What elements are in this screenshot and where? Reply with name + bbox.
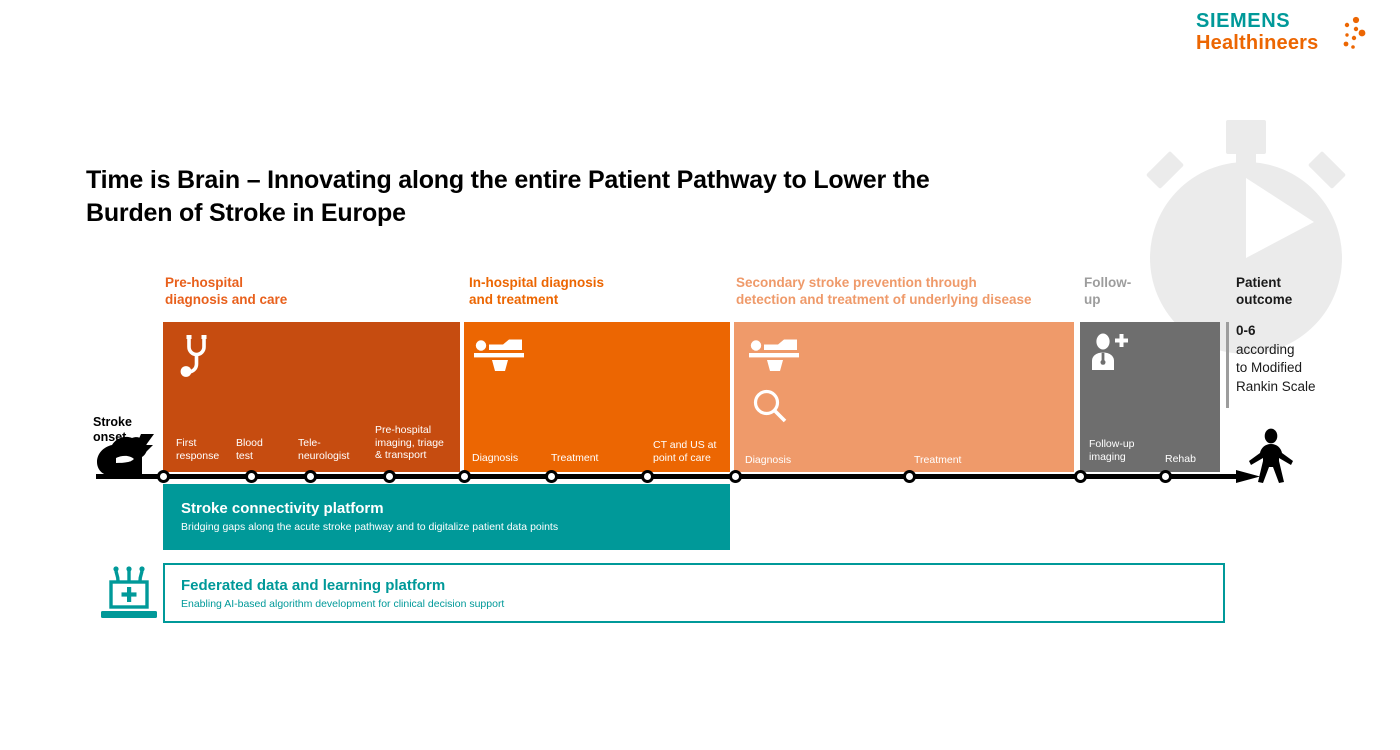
- platform-federated-data: Federated data and learning platform Ena…: [163, 563, 1225, 623]
- phase-header-pre-hospital: Pre-hospital diagnosis and care: [165, 274, 445, 308]
- timeline-node[interactable]: [157, 470, 170, 483]
- step-label-treatment-in-hospital: Treatment: [551, 452, 621, 465]
- timeline-node[interactable]: [1074, 470, 1087, 483]
- page-title: Time is Brain – Innovating along the ent…: [86, 164, 966, 230]
- timeline-node[interactable]: [245, 470, 258, 483]
- timeline-node[interactable]: [903, 470, 916, 483]
- step-label-rehab: Rehab: [1165, 453, 1225, 466]
- step-label-first-response: First response: [176, 437, 230, 462]
- phase-header-patient-outcome: Patient outcome: [1236, 274, 1366, 308]
- step-label-ct-and-us-at-point-of-care: CT and US at point of care: [653, 439, 729, 464]
- platform-title-federated-data: Federated data and learning platform: [181, 577, 445, 595]
- patient-table-icon: [473, 336, 525, 376]
- patient-pathway-diagram: Pre-hospital diagnosis and care In-hospi…: [0, 0, 1400, 750]
- step-label-treatment-secondary: Treatment: [914, 454, 984, 467]
- band-arrow-secondary-prevention-icon: [1064, 67, 1081, 101]
- step-label-follow-up-imaging: Follow-up imaging: [1089, 438, 1151, 463]
- band-arrow-pre-hospital-icon: [450, 67, 467, 101]
- timeline-node[interactable]: [383, 470, 396, 483]
- phase-header-follow-up: Follow- up: [1084, 274, 1174, 308]
- step-label-pre-hospital-imaging: Pre-hospital imaging, triage & transport: [375, 424, 459, 462]
- patient-table-icon: [748, 336, 800, 376]
- laptop-medical-icon: [98, 566, 160, 622]
- timeline-node[interactable]: [1159, 470, 1172, 483]
- timeline-node[interactable]: [458, 470, 471, 483]
- step-label-diagnosis-secondary: Diagnosis: [745, 454, 815, 467]
- outcome-score-value: 0-6: [1236, 323, 1256, 338]
- step-label-blood-test: Blood test: [236, 437, 290, 462]
- outcome-score-detail: according to Modified Rankin Scale: [1236, 341, 1366, 397]
- timeline-node[interactable]: [641, 470, 654, 483]
- stethoscope-icon: [178, 333, 212, 383]
- timeline-node[interactable]: [304, 470, 317, 483]
- platform-stroke-connectivity: Stroke connectivity platform Bridging ga…: [163, 484, 730, 550]
- timeline-node[interactable]: [545, 470, 558, 483]
- step-label-diagnosis-in-hospital: Diagnosis: [472, 452, 542, 465]
- platform-subtitle-federated-data: Enabling AI-based algorithm development …: [181, 598, 504, 611]
- timeline-arrowhead-icon: [1236, 464, 1262, 490]
- phase-header-in-hospital: In-hospital diagnosis and treatment: [469, 274, 749, 308]
- magnifier-icon: [752, 388, 788, 424]
- patient-outcome-detail: 0-6 according to Modified Rankin Scale: [1236, 322, 1366, 396]
- doctor-plus-icon: [1090, 333, 1130, 371]
- step-label-teleneurologist: Tele- neurologist: [298, 437, 368, 462]
- platform-title-stroke-connectivity: Stroke connectivity platform: [181, 500, 384, 518]
- platform-subtitle-stroke-connectivity: Bridging gaps along the acute stroke pat…: [181, 521, 558, 534]
- outcome-divider: [1226, 322, 1229, 408]
- band-arrow-in-hospital-icon: [720, 67, 737, 101]
- timeline-node[interactable]: [729, 470, 742, 483]
- phase-header-secondary-prevention: Secondary stroke prevention through dete…: [736, 274, 1086, 308]
